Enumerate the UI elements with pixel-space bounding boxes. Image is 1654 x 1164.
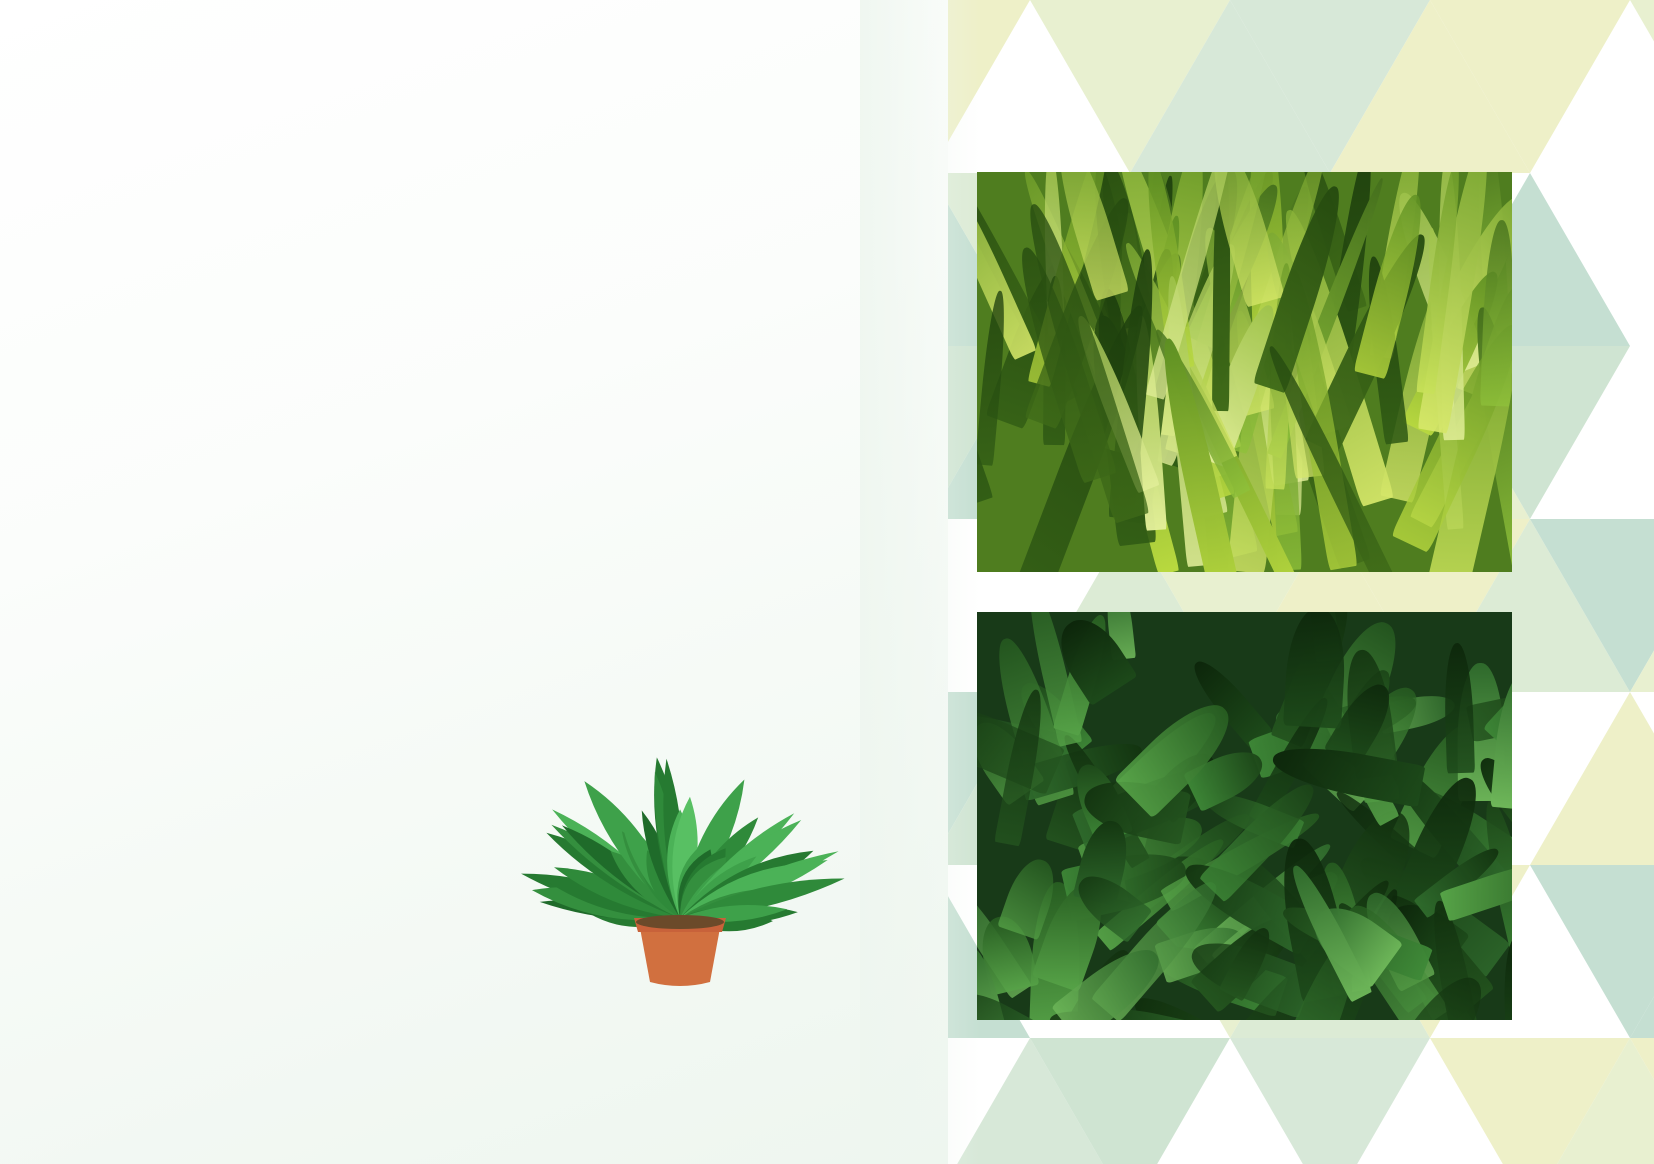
photo-variegated-dracena-leaves [977,172,1512,572]
decor-triangle [1630,865,1654,1038]
photo-dark-green-dracena-crown [977,612,1512,1020]
decor-triangle [1630,0,1654,173]
leaf-shape [1283,612,1348,729]
leaf-shape [1443,643,1475,774]
photo-potted-dracena-plant [500,660,860,990]
decor-triangle [1630,519,1654,692]
decor-triangle [1630,1038,1654,1164]
